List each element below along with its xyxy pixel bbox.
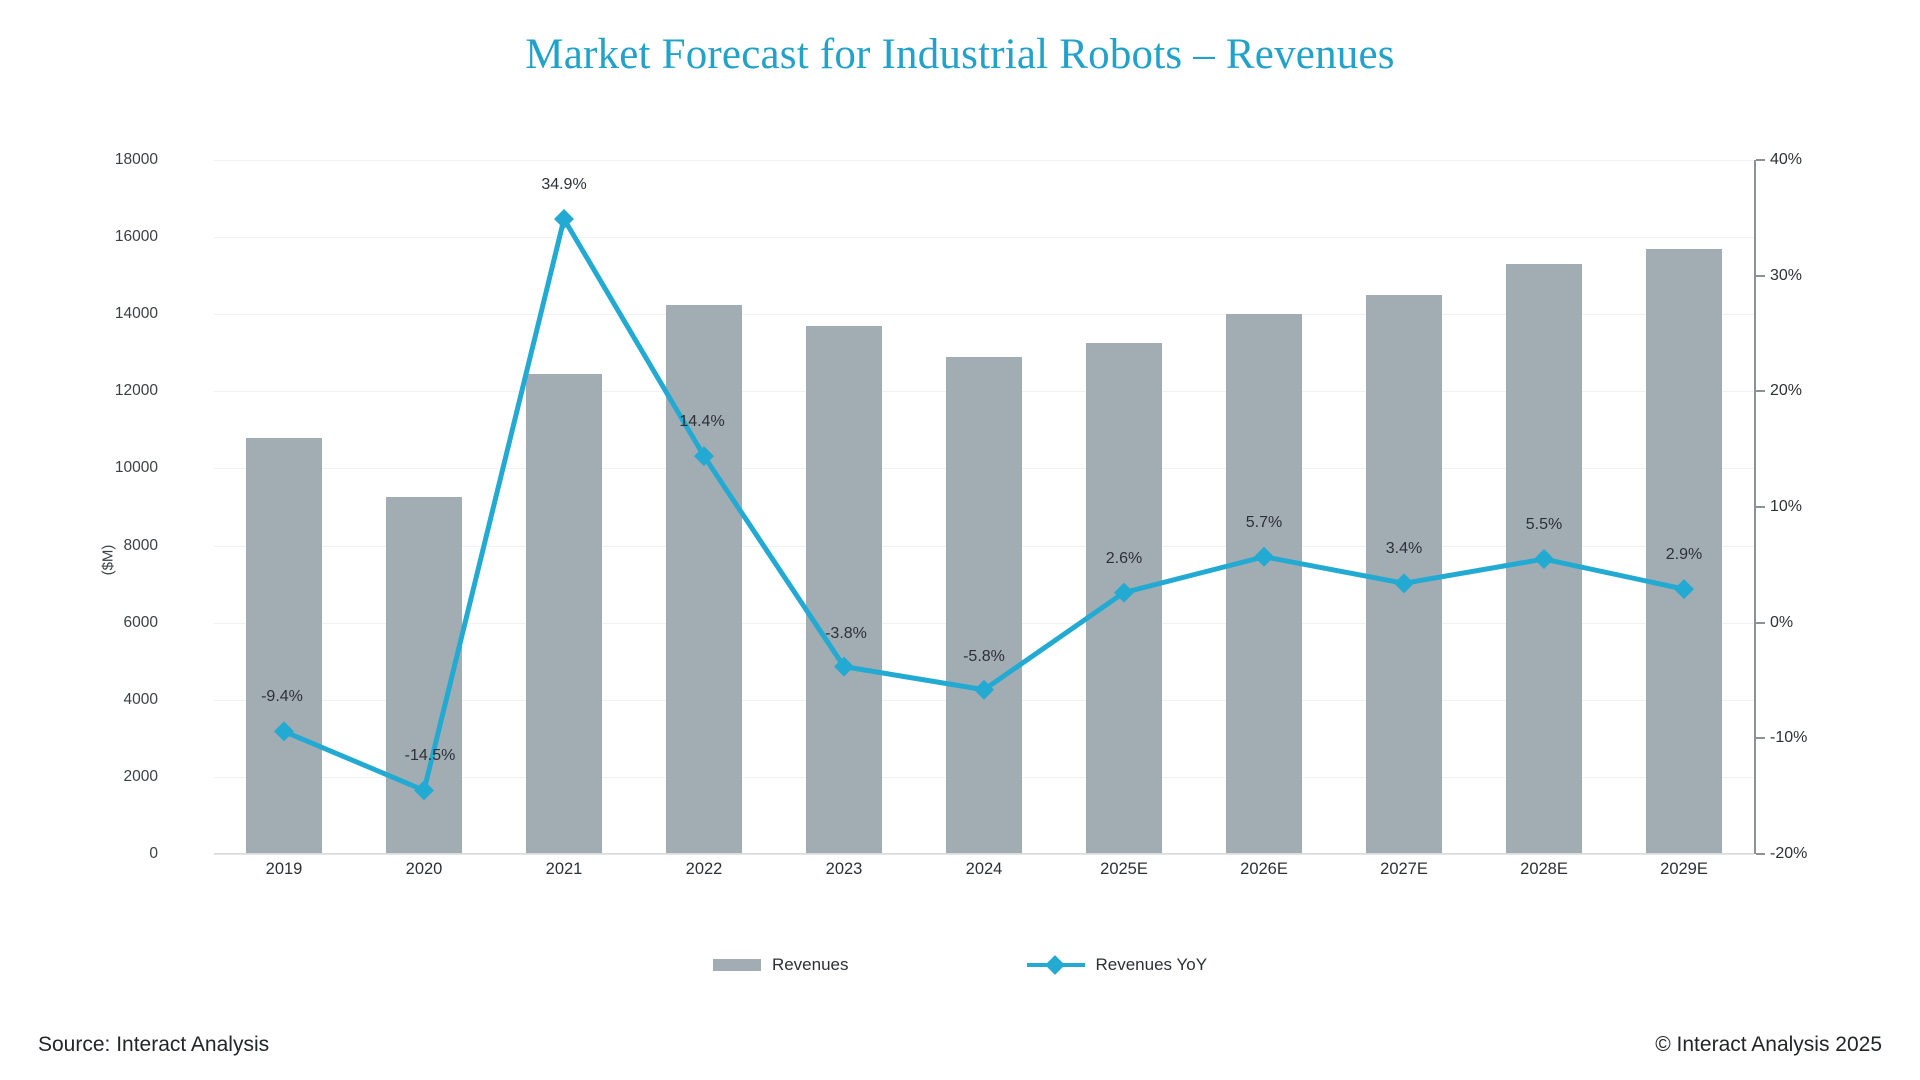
data-label: 5.5%: [1526, 516, 1562, 534]
y-axis-right-tickmark: [1756, 737, 1765, 739]
x-axis-line: [214, 853, 1754, 854]
y-axis-right-tick: 10%: [1770, 498, 1802, 516]
y-axis-left-tick: 6000: [124, 614, 158, 632]
x-axis-tick: 2022: [686, 860, 723, 879]
line-marker: [1254, 547, 1274, 567]
legend-item[interactable]: Revenues YoY: [1027, 955, 1208, 975]
y-axis-right-tickmark: [1756, 275, 1765, 277]
x-axis: 2019202020212022202320242025E2026E2027E2…: [214, 860, 1754, 894]
y-axis-left-tick: 0: [149, 845, 158, 863]
y-axis-right-tickmark: [1756, 506, 1765, 508]
line-marker: [1534, 549, 1554, 569]
y-axis-right-tickmark: [1756, 853, 1765, 855]
x-axis-tick: 2029E: [1660, 860, 1708, 879]
y-axis-left-tick: 8000: [124, 537, 158, 555]
y-axis-left-tick: 2000: [124, 768, 158, 786]
y-axis-left-tick: 10000: [115, 459, 158, 477]
x-axis-tick: 2025E: [1100, 860, 1148, 879]
page-title: Market Forecast for Industrial Robots – …: [0, 30, 1920, 79]
source-note: Source: Interact Analysis: [38, 1033, 269, 1057]
line-marker: [414, 780, 434, 800]
y-axis-left-tick: 16000: [115, 228, 158, 246]
plot-area: -9.4%-14.5%34.9%14.4%-3.8%-5.8%2.6%5.7%3…: [214, 160, 1754, 854]
legend-item[interactable]: Revenues: [713, 955, 849, 975]
line-marker: [274, 721, 294, 741]
y-axis-left-tick: 12000: [115, 382, 158, 400]
y-axis-left-tick: 14000: [115, 305, 158, 323]
legend: RevenuesRevenues YoY: [0, 955, 1920, 975]
x-axis-tick: 2028E: [1520, 860, 1568, 879]
y-axis-right-tickmark: [1756, 390, 1765, 392]
x-axis-tick: 2024: [966, 860, 1003, 879]
y-axis-right-tickmark: [1756, 622, 1765, 624]
line-marker: [1394, 573, 1414, 593]
line-path: [284, 219, 1684, 790]
x-axis-tick: 2020: [406, 860, 443, 879]
data-label: -14.5%: [405, 747, 456, 765]
x-axis-tick: 2027E: [1380, 860, 1428, 879]
line-marker: [1674, 579, 1694, 599]
legend-label: Revenues: [772, 955, 849, 975]
y-axis-right-tick: 20%: [1770, 382, 1802, 400]
y-axis-left-tick: 4000: [124, 691, 158, 709]
legend-line-diamond-swatch-icon: [1027, 957, 1085, 973]
x-axis-tick: 2023: [826, 860, 863, 879]
y-axis-right-tick: -20%: [1770, 845, 1807, 863]
data-label: 5.7%: [1246, 514, 1282, 532]
data-label: -3.8%: [825, 625, 867, 643]
gridline: [214, 854, 1754, 855]
data-label: 14.4%: [679, 413, 724, 431]
y-axis-right-tick: 0%: [1770, 614, 1793, 632]
y-axis-right-tick: -10%: [1770, 729, 1807, 747]
x-axis-tick: 2019: [266, 860, 303, 879]
x-axis-tick: 2021: [546, 860, 583, 879]
copyright-note: © Interact Analysis 2025: [1655, 1033, 1882, 1057]
data-label: -5.8%: [963, 648, 1005, 666]
data-label: 2.9%: [1666, 546, 1702, 564]
y-axis-right-tick: 40%: [1770, 151, 1802, 169]
legend-bar-swatch-icon: [713, 959, 761, 971]
data-label: 2.6%: [1106, 550, 1142, 568]
data-label: 34.9%: [541, 176, 586, 194]
y-axis-right: -20%-10%0%10%20%30%40%: [1754, 160, 1920, 854]
y-axis-right-tickmark: [1756, 159, 1765, 161]
y-axis-left-title: ($M): [100, 545, 117, 576]
legend-label: Revenues YoY: [1096, 955, 1208, 975]
data-label: 3.4%: [1386, 540, 1422, 558]
x-axis-tick: 2026E: [1240, 860, 1288, 879]
data-label: -9.4%: [261, 688, 303, 706]
y-axis-left: ($M) 02000400060008000100001200014000160…: [0, 160, 214, 854]
y-axis-left-tick: 18000: [115, 151, 158, 169]
y-axis-right-tick: 30%: [1770, 267, 1802, 285]
